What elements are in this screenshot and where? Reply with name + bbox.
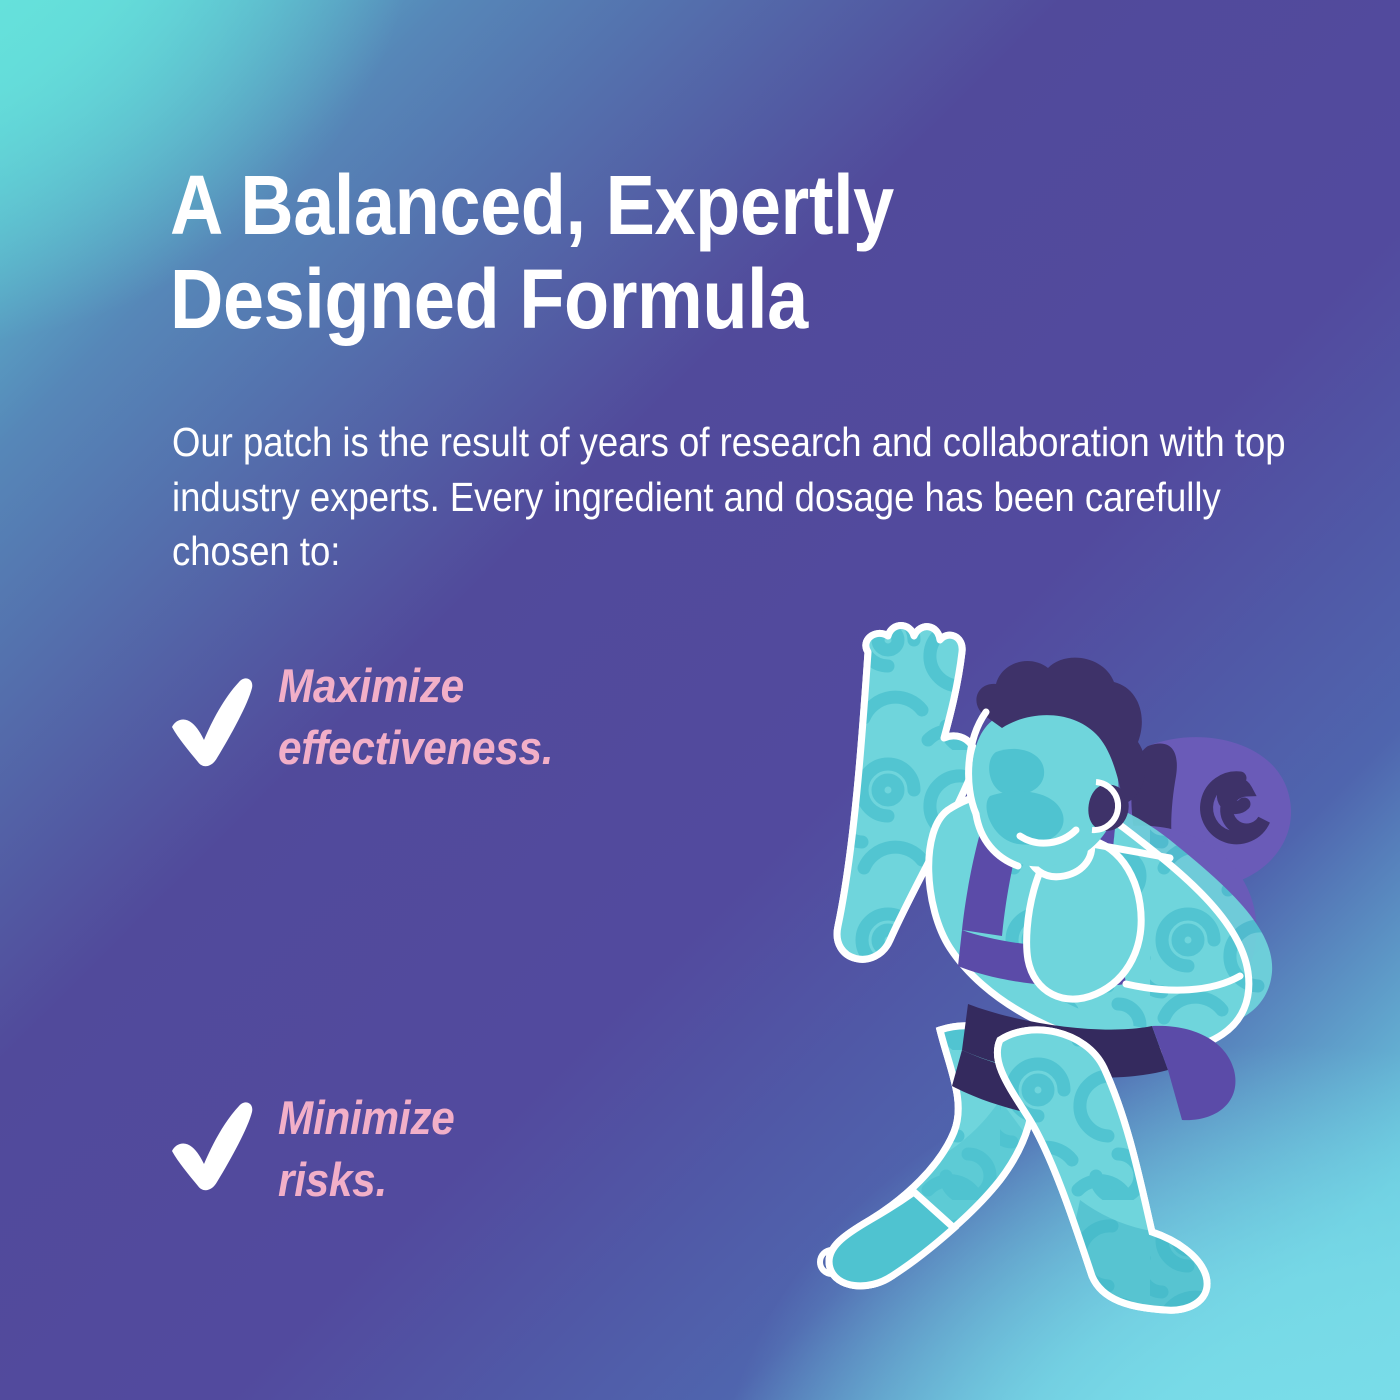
- promo-graphic: A Balanced, Expertly Designed Formula Ou…: [0, 0, 1400, 1400]
- checkmark-icon: [160, 663, 256, 773]
- page-title: A Balanced, Expertly Designed Formula: [170, 158, 1068, 346]
- intro-paragraph: Our patch is the result of years of rese…: [172, 415, 1320, 579]
- hiker-back-foot: [820, 1192, 954, 1286]
- list-item-label: Maximize effectiveness.: [278, 655, 553, 779]
- hiker-illustration: [700, 600, 1400, 1360]
